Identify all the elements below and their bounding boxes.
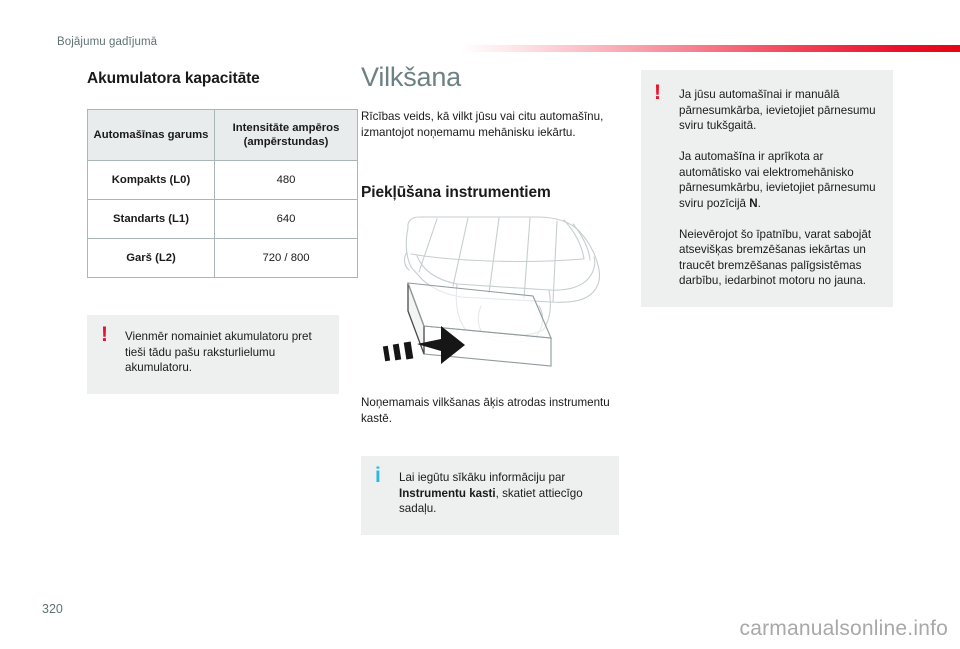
column-right: ! Ja jūsu automašīnai ir manuālā pārnesu… [641,70,893,307]
page-number: 320 [42,602,63,616]
table-column-header-length: Automašīnas garums [88,110,215,161]
table-cell-value: 640 [215,200,358,239]
warning-exclamation-icon: ! [654,82,661,103]
towing-intro-text: Rīcības veids, kā vilkt jūsu vai citu au… [361,109,619,140]
gearbox-warning-paragraph-2: Ja automašīna ir aprīkota ar automātisko… [679,149,879,211]
toolbox-caption-text: Noņemamais vilkšanas āķis atrodas instru… [361,395,619,426]
battery-warning-callout: ! Vienmēr nomainiet akumulatoru pret tie… [87,315,339,394]
table-cell-name: Garš (L2) [88,239,215,278]
battery-warning-text: Vienmēr nomainiet akumulatoru pret tieši… [125,329,325,376]
table-cell-value: 480 [215,161,358,200]
section-title-towing: Vilkšana [361,62,619,93]
table-cell-value: 720 / 800 [215,239,358,278]
site-watermark: carmanualsonline.info [740,617,949,641]
gearbox-text-before: Ja automašīna ir aprīkota ar automātisko… [679,150,876,210]
chapter-title: Bojājumu gadījumā [57,36,157,48]
gearbox-warning-paragraph-3: Neievērojot šo īpatnību, varat sabojāt a… [679,227,879,289]
gearbox-warning-paragraph-1: Ja jūsu automašīnai ir manuālā pārnesumk… [679,87,879,134]
column-middle: Vilkšana Rīcības veids, kā vilkt jūsu va… [361,70,619,535]
gearbox-position-n: N [749,197,757,210]
table-header-row: Automašīnas garums Intensitāte ampēros (… [88,110,358,161]
battery-capacity-table: Automašīnas garums Intensitāte ampēros (… [87,109,358,278]
warning-exclamation-icon: ! [101,324,108,345]
gearbox-text-after: . [758,197,761,210]
gearbox-warning-callout: ! Ja jūsu automašīnai ir manuālā pārnesu… [641,70,893,307]
table-cell-name: Standarts (L1) [88,200,215,239]
page-title: Akumulatora kapacitāte [87,70,339,88]
table-row: Standarts (L1) 640 [88,200,358,239]
table-row: Kompakts (L0) 480 [88,161,358,200]
subsection-title-tool-access: Piekļūšana instrumentiem [361,184,619,202]
info-text-before: Lai iegūtu sīkāku informāciju par [399,471,565,484]
table-column-header-intensity: Intensitāte ampēros (ampērstundas) [215,110,358,161]
header-accent-rule [460,45,960,52]
toolbox-info-callout: i Lai iegūtu sīkāku informāciju par Inst… [361,456,619,535]
table-cell-name: Kompakts (L0) [88,161,215,200]
car-seat-toolbox-illustration [361,214,619,379]
toolbox-info-text: Lai iegūtu sīkāku informāciju par Instru… [399,470,605,517]
column-left: Akumulatora kapacitāte Automašīnas garum… [87,70,339,394]
table-row: Garš (L2) 720 / 800 [88,239,358,278]
info-i-icon: i [375,465,381,486]
info-text-bold: Instrumentu kasti [399,487,496,500]
page-header: Bojājumu gadījumā [0,0,960,58]
